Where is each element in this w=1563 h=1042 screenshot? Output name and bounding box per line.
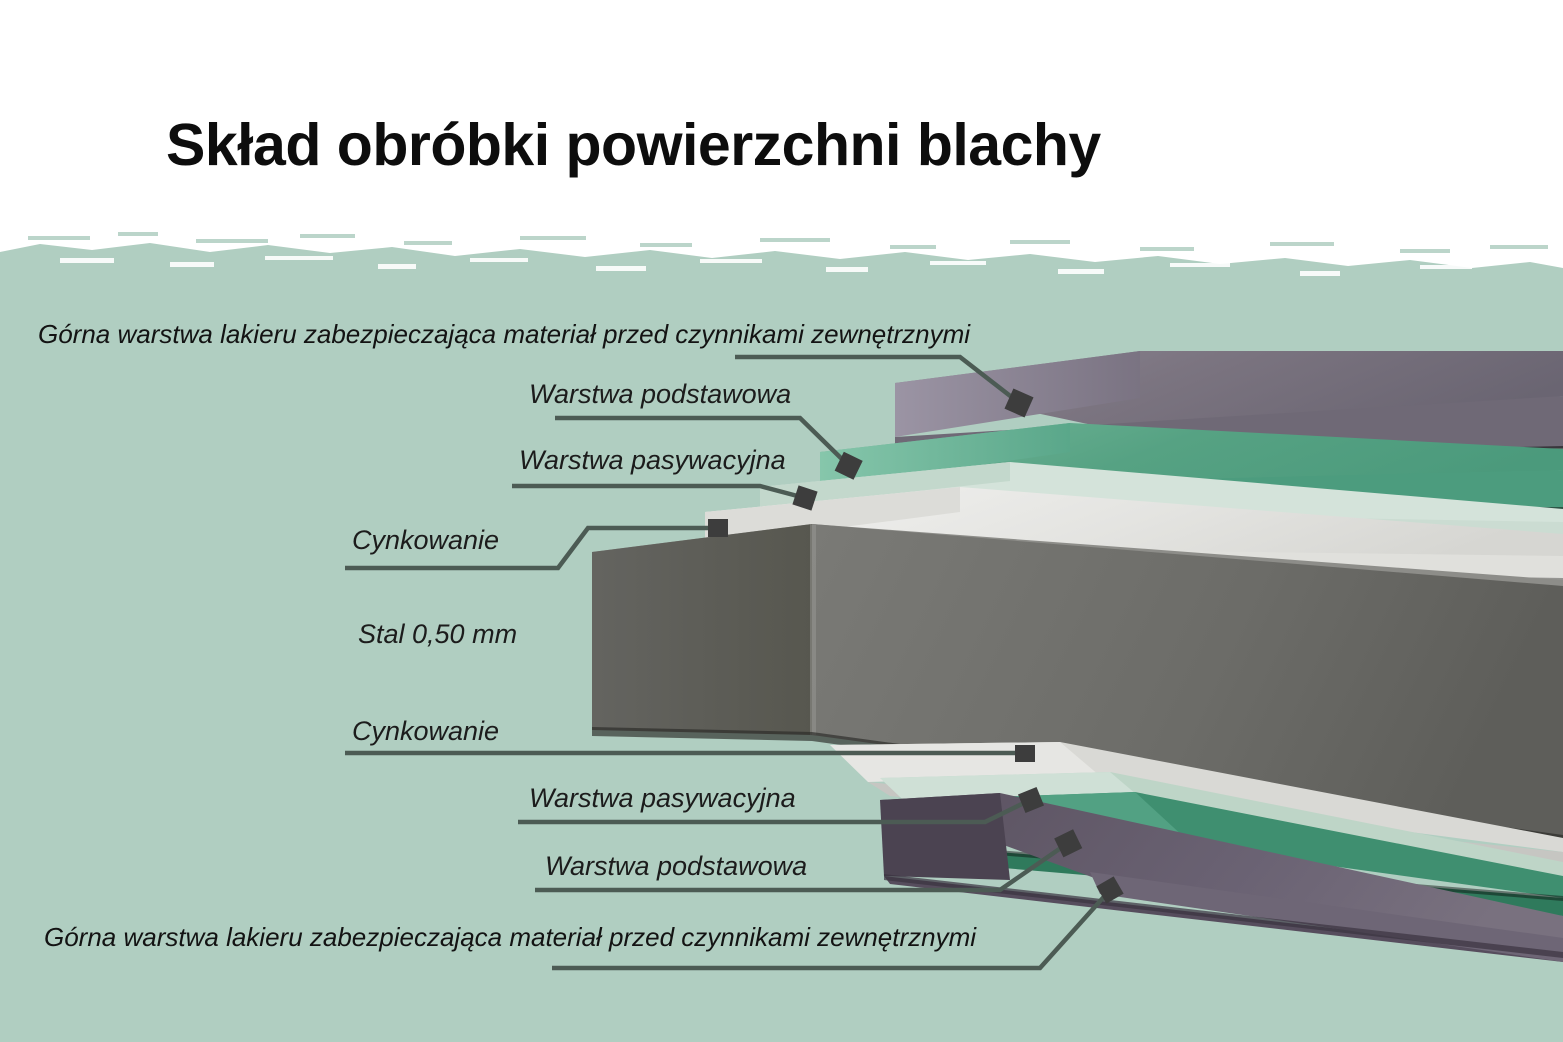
callout-zinc-bottom-label: Cynkowanie (352, 716, 499, 746)
callout-steel-core-label: Stal 0,50 mm (358, 619, 517, 649)
callout-passivation-top-label: Warstwa pasywacyjna (519, 445, 786, 475)
callout-zinc-top-label: Cynkowanie (352, 525, 499, 555)
callout-topcoat-bottom-label: Górna warstwa lakieru zabezpieczająca ma… (44, 922, 977, 952)
callout-primer-top-label: Warstwa podstawowa (529, 379, 791, 409)
callout-passivation-bottom-label: Warstwa pasywacyjna (529, 783, 796, 813)
callout-primer-bottom-label: Warstwa podstawowa (545, 851, 807, 881)
page-title: Skład obróbki powierzchni blachy (166, 112, 1101, 178)
callout-zinc-top-marker (708, 519, 728, 537)
callout-steel-core: Stal 0,50 mm (358, 619, 517, 649)
slide-canvas: Skład obróbki powierzchni blachy (0, 0, 1563, 1042)
callout-topcoat-top-label: Górna warstwa lakieru zabezpieczająca ma… (38, 319, 971, 349)
callout-zinc-bottom-marker (1015, 745, 1035, 762)
